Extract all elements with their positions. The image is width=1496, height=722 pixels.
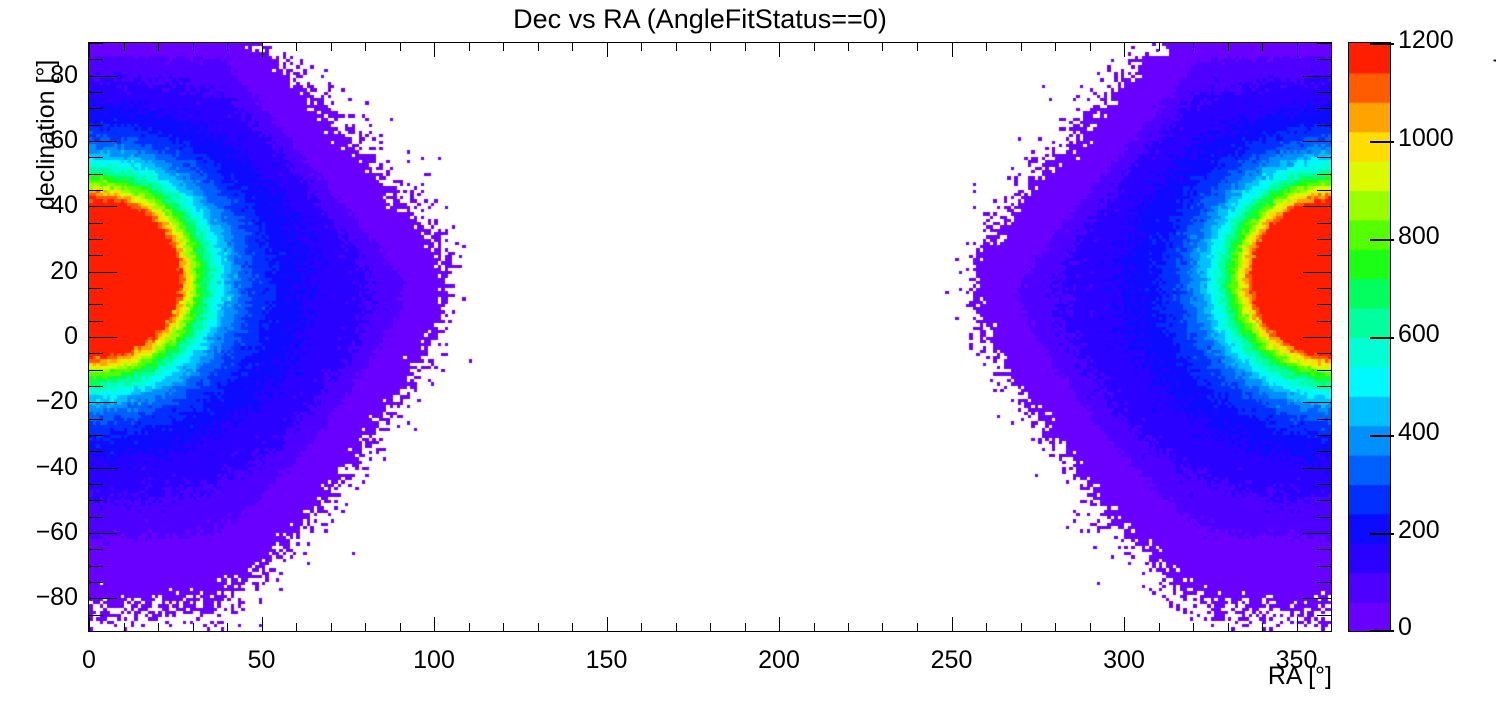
x-tick-label: 0 [49,646,129,675]
y-tick-label: −40 [4,453,78,482]
y-tick-label: 20 [4,257,78,286]
x-tick-top [1331,43,1332,51]
histogram-image [89,43,1331,631]
x-tick [1331,623,1332,631]
y-tick [89,631,103,632]
z-tick-label: 400 [1398,418,1440,447]
z-axis-title: count [1488,57,1496,118]
z-tick-label: 800 [1398,222,1440,251]
x-tick-label: 200 [739,646,819,675]
plot-frame [88,42,1332,632]
y-tick-label: 0 [4,322,78,351]
x-axis-title: RA [°] [1268,662,1332,691]
color-scale-bar [1348,42,1391,632]
page-title: Dec vs RA (AngleFitStatus==0) [0,4,1400,35]
z-tick-label: 1200 [1398,26,1454,55]
y-tick-label: −80 [4,583,78,612]
x-tick-label: 150 [567,646,647,675]
y-axis-title: declination [°] [32,60,61,210]
x-tick-label: 100 [394,646,474,675]
z-tick-label: 200 [1398,516,1440,545]
y-tick-right [1317,631,1331,632]
z-tick-label: 600 [1398,320,1440,349]
color-scale-gradient [1349,43,1390,631]
x-tick-label: 300 [1084,646,1164,675]
x-tick-label: 250 [912,646,992,675]
x-tick-label: 50 [222,646,302,675]
y-tick-label: −20 [4,387,78,416]
z-tick-label: 0 [1398,613,1412,642]
plot-canvas: Dec vs RA (AngleFitStatus==0) 0501001502… [0,0,1496,722]
z-tick-label: 1000 [1398,124,1454,153]
y-tick-label: −60 [4,518,78,547]
